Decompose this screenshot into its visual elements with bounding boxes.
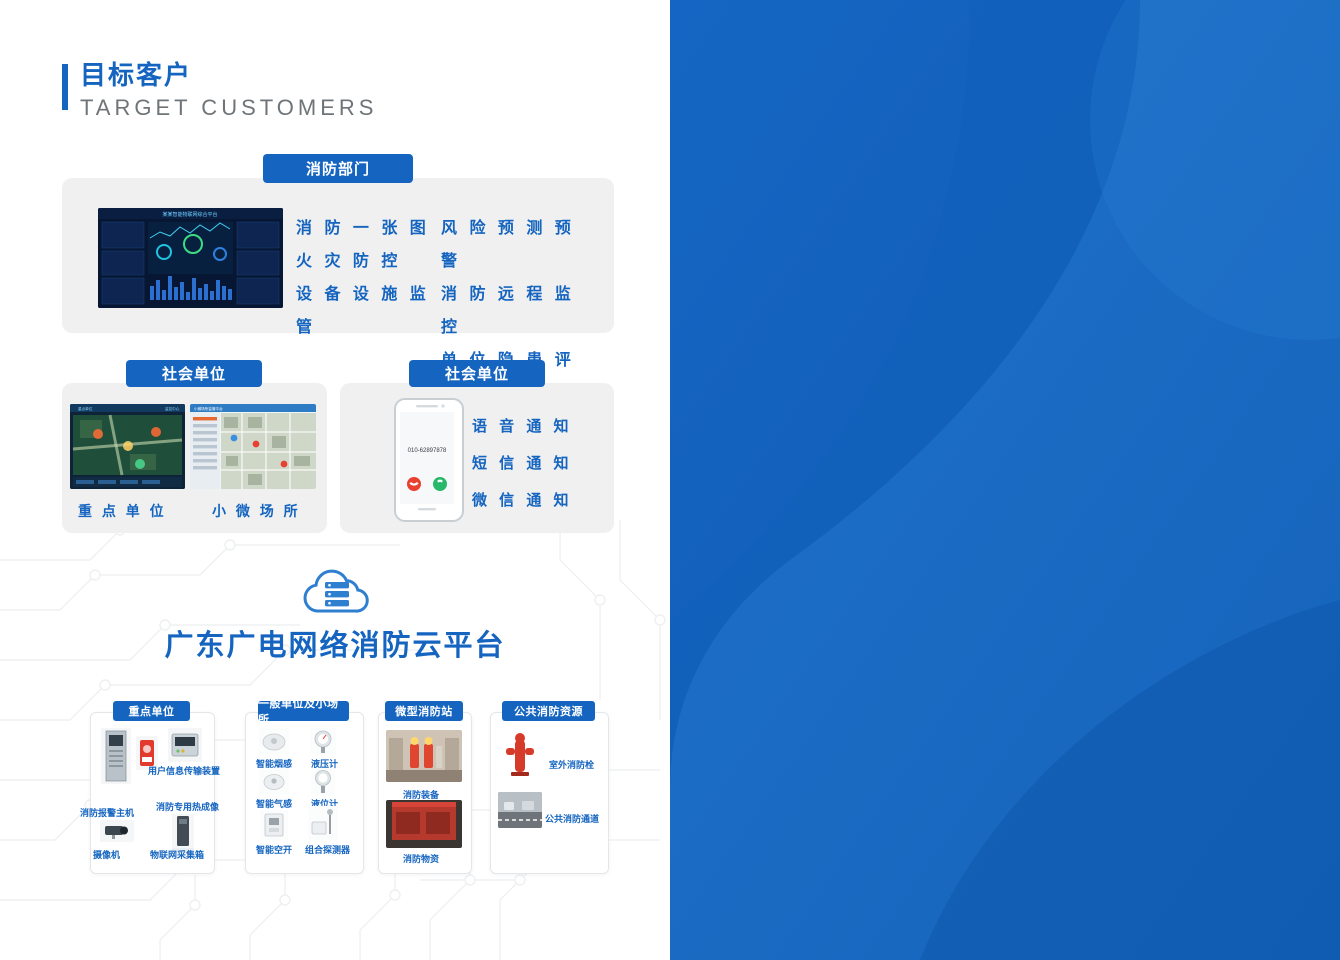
social-unit-left-pill: 社会单位	[126, 360, 262, 387]
notification-item: 语 音 通 知	[472, 408, 573, 445]
fire-supplies-photo	[386, 800, 462, 848]
public-fire-lane-photo	[498, 792, 542, 828]
notification-item: 微 信 通 知	[472, 482, 573, 519]
key-unit-caption: 重 点 单 位	[78, 501, 167, 521]
small-venue-map-screenshot: 小微场所监管平台	[190, 404, 316, 489]
notification-list: 语 音 通 知 短 信 通 知 微 信 通 知	[472, 408, 573, 519]
key-unit-map-screenshot: 重点单位 监控中心	[70, 404, 185, 489]
fire-dept-feature-col-1: 消 防 一 张 图 火 灾 防 控 设 备 设 施 监 管	[296, 212, 441, 344]
feature-item: 设 备 设 施 监 管	[296, 278, 441, 344]
device-label: 用户信息传输装置	[148, 764, 220, 777]
device-label: 消防物资	[403, 852, 439, 865]
device-card-pill-key-unit: 重点单位	[113, 701, 190, 721]
svg-text:重点单位: 重点单位	[78, 406, 93, 411]
device-label: 消防报警主机	[80, 806, 134, 819]
cloud-server-icon	[300, 565, 374, 617]
notification-item: 短 信 通 知	[472, 445, 573, 482]
device-card-pill-micro-station: 微型消防站	[385, 701, 463, 721]
page-title-block: 目标客户 TARGET CUSTOMERS	[62, 58, 377, 122]
hydraulic-gauge-image	[310, 728, 336, 754]
device-label: 智能气感	[256, 797, 292, 810]
svg-text:监控中心: 监控中心	[165, 406, 180, 411]
phone-call-mockup: 010-62897878	[394, 398, 464, 522]
camera-image	[100, 820, 134, 842]
smart-gas-sensor-image	[259, 768, 289, 794]
small-venue-caption: 小 微 场 所	[212, 501, 301, 521]
device-label: 物联网采集箱	[150, 848, 204, 861]
feature-item: 消 防 远 程 监 控	[441, 278, 591, 344]
device-label: 公共消防通道	[545, 812, 599, 825]
combination-detector-image	[308, 806, 338, 840]
feature-item: 消 防 一 张 图	[296, 212, 441, 245]
svg-text:某某智能物联网综合平台: 某某智能物联网综合平台	[162, 211, 217, 218]
feature-item: 风 险 预 测 预 警	[441, 212, 591, 278]
device-label: 摄像机	[93, 848, 120, 861]
device-label: 智能空开	[256, 843, 292, 856]
feature-item: 火 灾 防 控	[296, 245, 441, 278]
smart-breaker-image	[260, 810, 288, 840]
device-label: 组合探测器	[305, 843, 350, 856]
device-card-pill-public-resource: 公共消防资源	[502, 701, 595, 721]
platform-title: 广东广电网络消防云平台	[0, 622, 670, 664]
brochure-page: 目标客户 TARGET CUSTOMERS 消防部门 某某智能物联网综合平台	[0, 0, 1340, 960]
fire-dept-pill: 消防部门	[263, 154, 413, 183]
device-label: 室外消防栓	[549, 758, 594, 771]
fire-equipment-photo	[386, 730, 462, 782]
right-brand-panel: 广东广电网络 GUANGDONG CABLE NETWORK	[670, 0, 1340, 960]
transmission-device-image	[168, 728, 202, 762]
left-content-panel: 目标客户 TARGET CUSTOMERS 消防部门 某某智能物联网综合平台	[0, 0, 670, 960]
liquid-level-gauge-image	[311, 768, 335, 794]
smart-smoke-sensor-image	[259, 728, 289, 754]
device-label: 消防专用热成像	[156, 800, 219, 813]
svg-text:小微场所监管平台: 小微场所监管平台	[194, 406, 223, 411]
fire-dept-dashboard-screenshot: 某某智能物联网综合平台	[98, 208, 283, 308]
page-title-cn: 目标客户	[80, 58, 377, 92]
fire-alarm-host-image	[101, 728, 131, 784]
title-accent-bar	[62, 64, 68, 110]
phone-number-text: 010-62897878	[408, 448, 447, 454]
social-unit-right-pill: 社会单位	[409, 360, 545, 387]
page-title-en: TARGET CUSTOMERS	[80, 94, 377, 122]
outdoor-hydrant-image	[498, 728, 542, 780]
device-card-pill-general-unit: 一般单位及小场所	[258, 701, 349, 721]
brand-panel-background	[670, 0, 1340, 960]
